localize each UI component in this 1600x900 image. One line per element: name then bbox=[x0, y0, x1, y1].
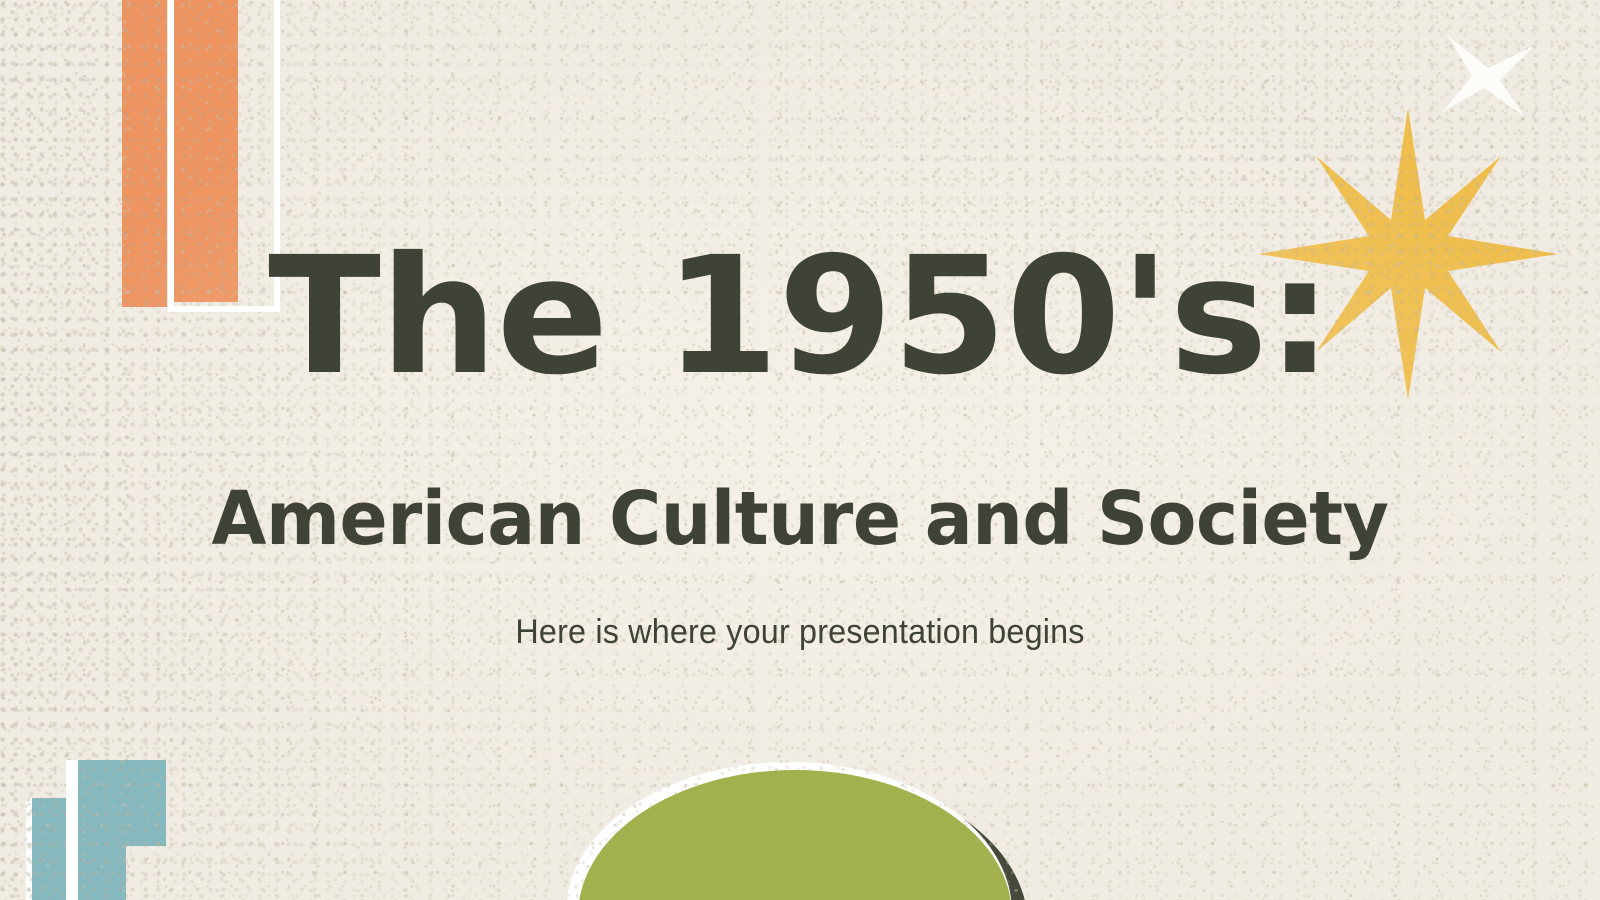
page-title: The 1950's: bbox=[0, 236, 1600, 398]
page-subtitle: American Culture and Society bbox=[32, 482, 1568, 556]
green-ellipse bbox=[578, 770, 1012, 900]
teal-gap-divider-upper bbox=[66, 760, 78, 802]
teal-gap-divider-lower bbox=[66, 798, 78, 900]
four-point-star-icon bbox=[1438, 36, 1534, 116]
title-slide: The 1950's: American Culture and Society… bbox=[0, 0, 1600, 900]
page-tagline: Here is where your presentation begins bbox=[40, 612, 1560, 653]
teal-square-lower bbox=[32, 798, 126, 900]
